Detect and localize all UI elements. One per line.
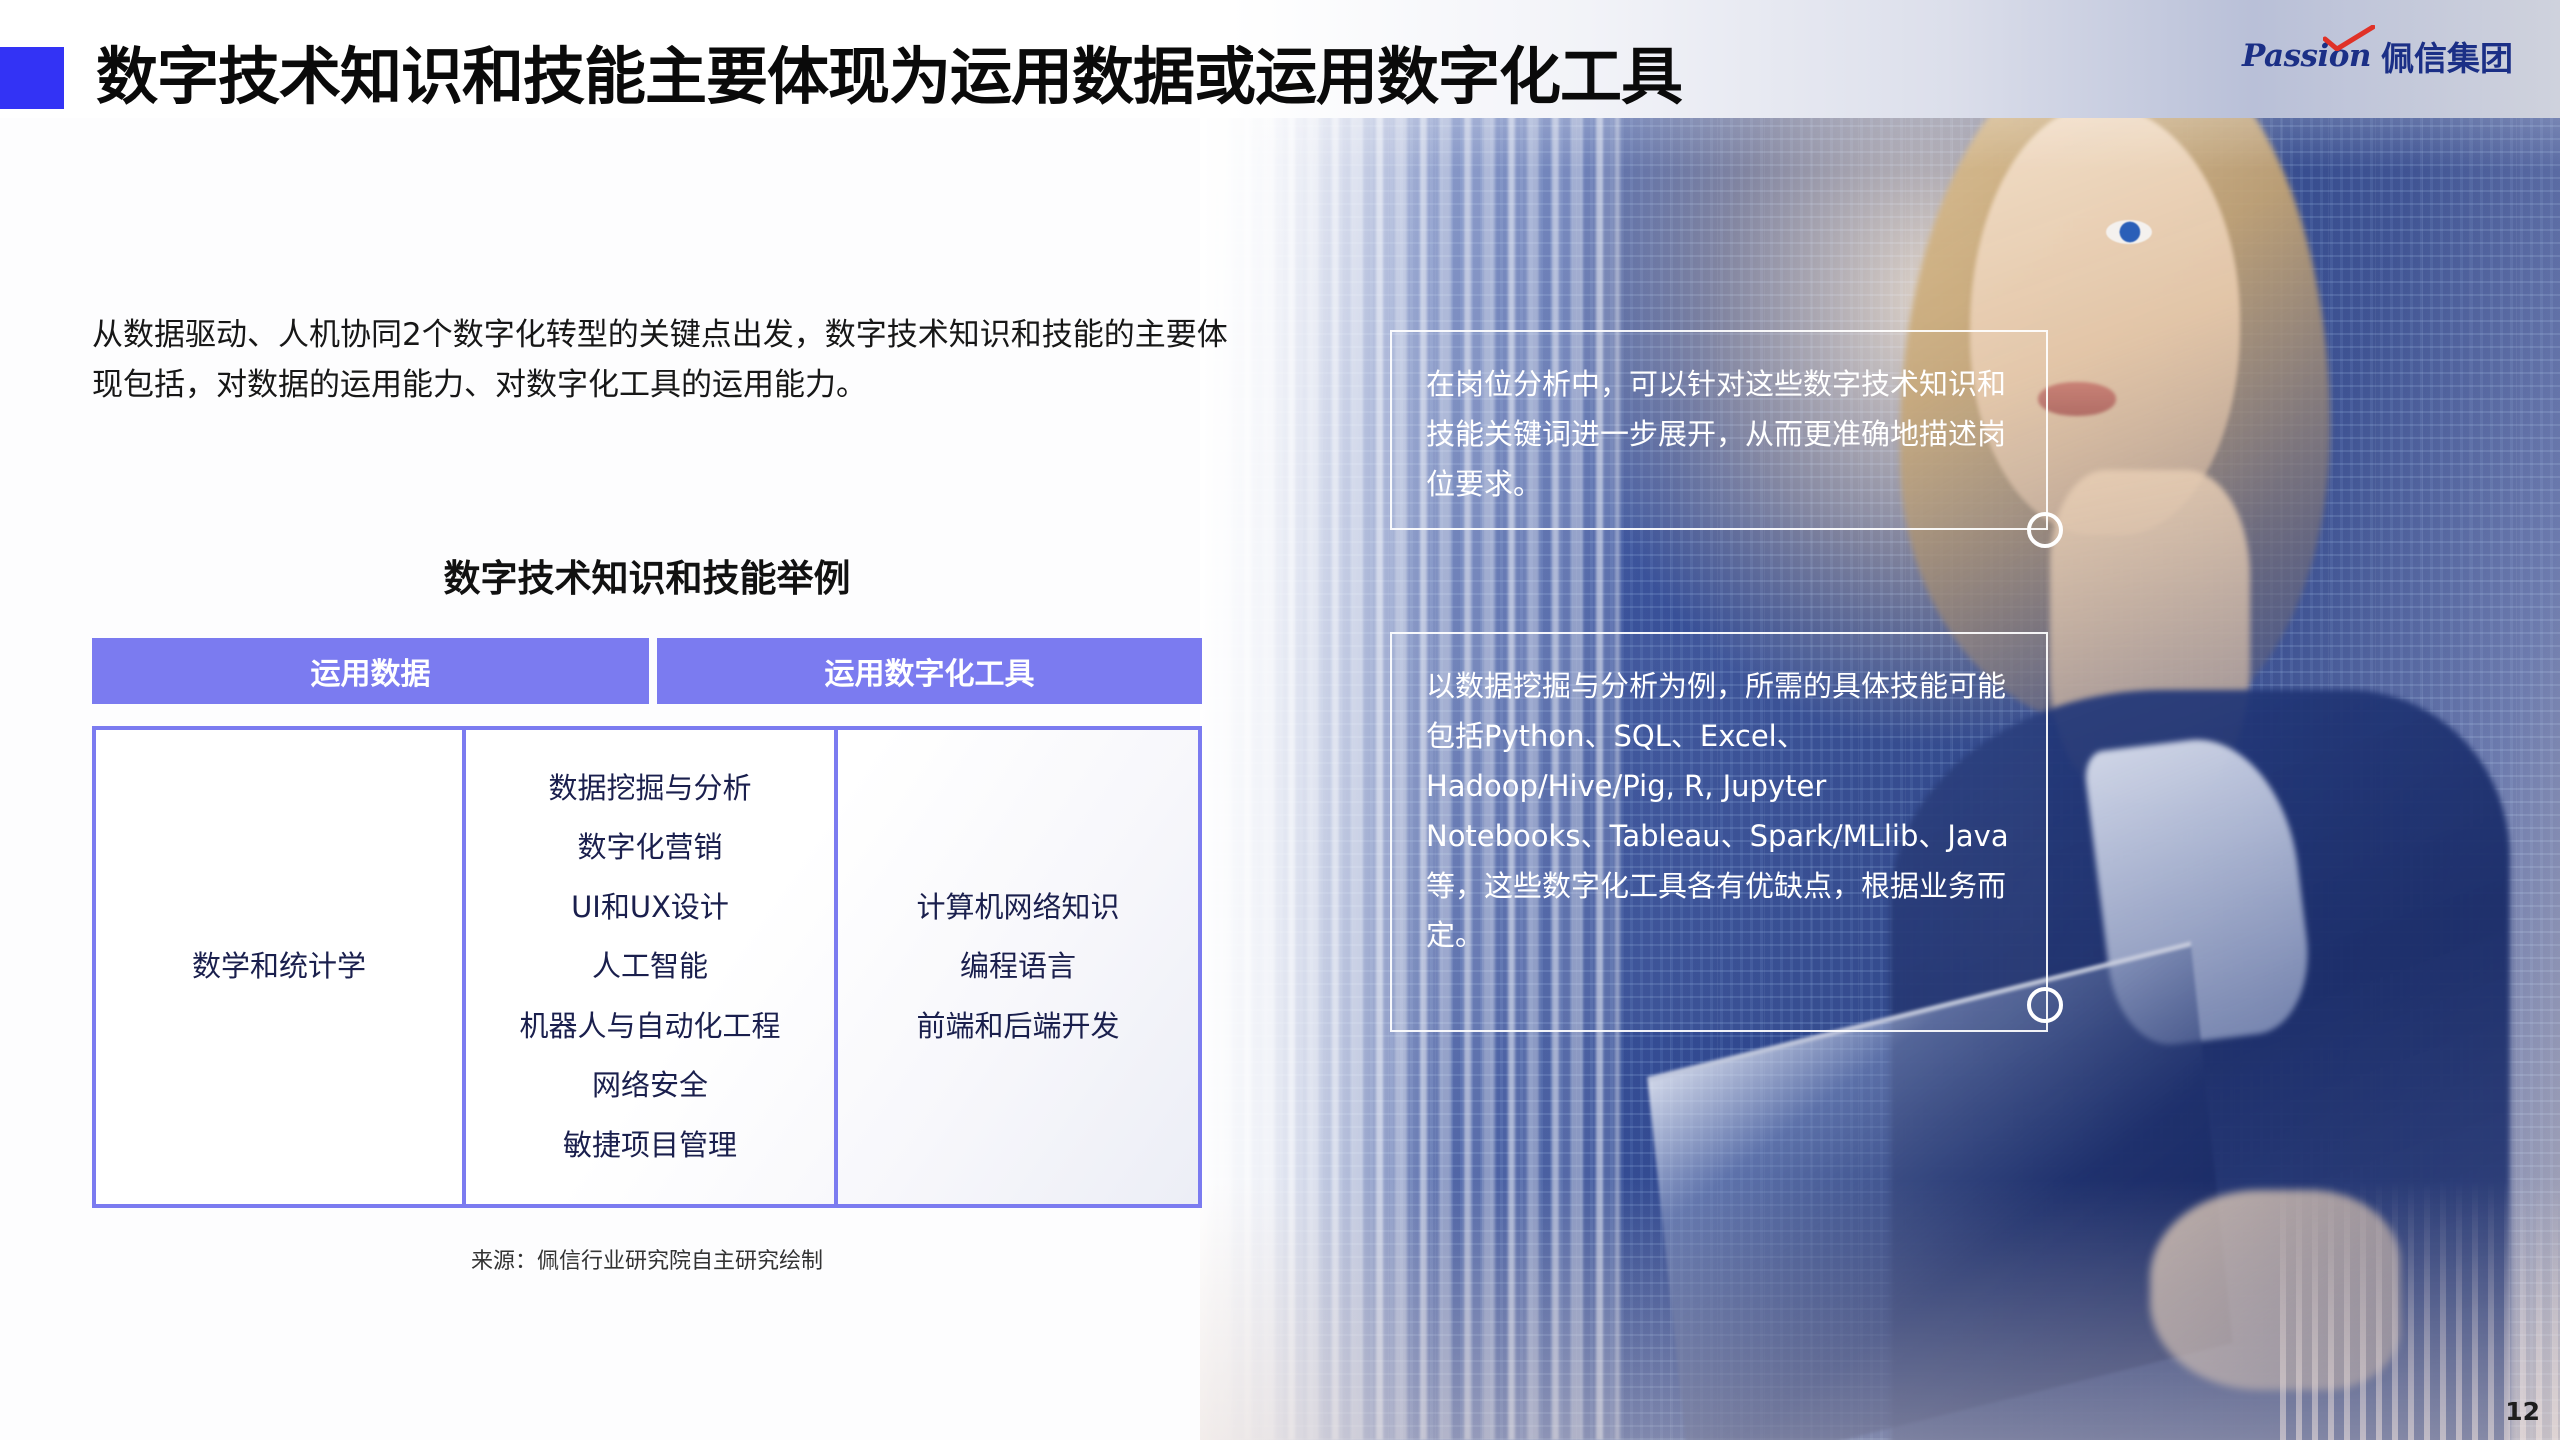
table-cell: 机器人与自动化工程 [519, 997, 780, 1056]
table-column-2: 计算机网络知识 编程语言 前端和后端开发 [838, 730, 1198, 1204]
table-header-row: 运用数据 运用数字化工具 [92, 638, 1202, 704]
callout-marker-2 [2027, 987, 2063, 1023]
intro-paragraph: 从数据驱动、人机协同2个数字化转型的关键点出发，数字技术知识和技能的主要体现包括… [92, 310, 1252, 410]
logo-chinese-label: 佩信集团 [2381, 32, 2513, 80]
slide-root: 数字技术知识和技能主要体现为运用数据或运用数字化工具 Passion 佩信集团 … [0, 0, 2560, 1440]
callout-marker-1 [2027, 512, 2063, 548]
person-lips [2038, 382, 2116, 416]
table-cell: 数据挖掘与分析 [548, 759, 751, 818]
page-number: 12 [2505, 1397, 2540, 1426]
logo-latin-text: Passion [2242, 38, 2371, 74]
table-cell: 编程语言 [960, 937, 1076, 996]
table-header-use-data: 运用数据 [92, 638, 649, 704]
table-cell: 前端和后端开发 [916, 997, 1119, 1056]
table-cell: 人工智能 [592, 937, 708, 996]
page-title: 数字技术知识和技能主要体现为运用数据或运用数字化工具 [96, 26, 1682, 116]
photo-bottom-haze [1200, 1180, 2560, 1440]
title-band: 数字技术知识和技能主要体现为运用数据或运用数字化工具 [0, 0, 2560, 118]
table-cell: 数学和统计学 [192, 937, 366, 996]
table-cell: 数字化营销 [577, 818, 722, 877]
logo-latin-label: Passion [2242, 38, 2371, 74]
person-eye [2106, 220, 2152, 244]
callout-box-1: 在岗位分析中，可以针对这些数字技术知识和技能关键词进一步展开，从而更准确地描述岗… [1390, 330, 2048, 530]
table-column-1: 数据挖掘与分析 数字化营销 UI和UX设计 人工智能 机器人与自动化工程 网络安… [466, 730, 838, 1204]
table-body: 数学和统计学 数据挖掘与分析 数字化营销 UI和UX设计 人工智能 机器人与自动… [92, 726, 1202, 1208]
brand-logo: Passion 佩信集团 [2242, 32, 2513, 80]
table-cell: 计算机网络知识 [916, 878, 1119, 937]
table-cell: UI和UX设计 [571, 878, 729, 937]
table-title: 数字技术知识和技能举例 [92, 548, 1202, 602]
table-source-note: 来源：佩信行业研究院自主研究绘制 [92, 1243, 1202, 1275]
table-cell: 敏捷项目管理 [563, 1116, 737, 1175]
table-column-0: 数学和统计学 [96, 730, 466, 1204]
title-accent-square [0, 47, 64, 109]
callout-box-2: 以数据挖掘与分析为例，所需的具体技能可能包括Python、SQL、Excel、H… [1390, 632, 2048, 1032]
table-cell: 网络安全 [592, 1056, 708, 1115]
table-header-use-digital-tools: 运用数字化工具 [657, 638, 1202, 704]
